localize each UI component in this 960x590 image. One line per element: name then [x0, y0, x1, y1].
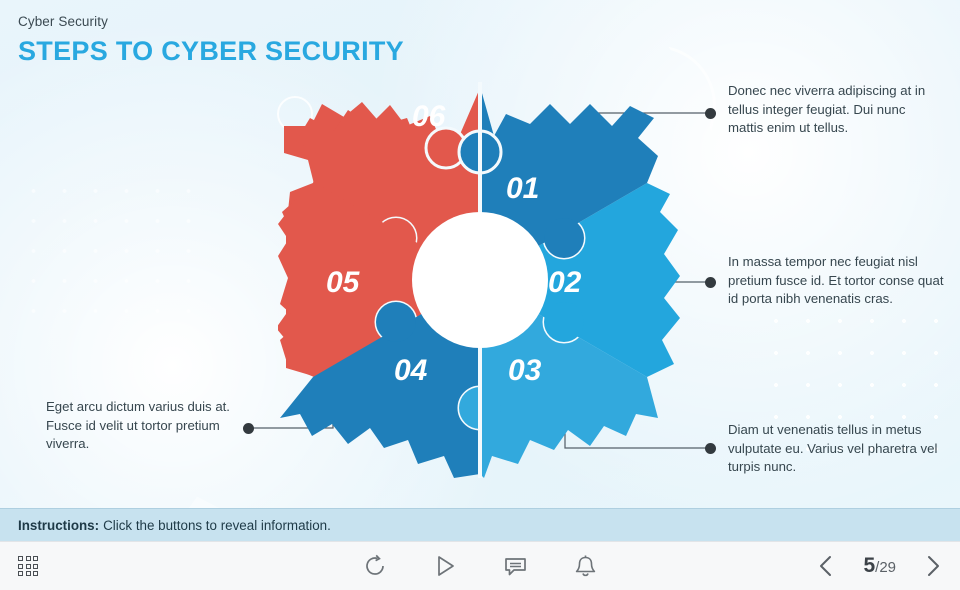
callout-02-dot	[705, 277, 716, 288]
segment-02-knob	[544, 302, 584, 342]
wheel-hub	[412, 212, 548, 348]
callout-04: Eget arcu dictum varius duis at. Fusce i…	[46, 398, 236, 454]
prev-page-button[interactable]	[813, 553, 839, 579]
eyebrow-label: Cyber Security	[18, 14, 404, 29]
callout-01-dot	[705, 108, 716, 119]
play-button[interactable]	[430, 551, 460, 581]
callout-02-text: In massa tempor nec feugiat nisl pretium…	[728, 253, 956, 309]
player-toolbar: 5/29	[0, 541, 960, 590]
player-center-controls	[360, 551, 600, 581]
segment-05-label: 05	[326, 266, 361, 299]
callout-01: Donec nec viverra adipiscing at in tellu…	[728, 82, 943, 138]
segment-02-label: 02	[548, 266, 582, 299]
next-page-button[interactable]	[920, 553, 946, 579]
chevron-right-icon	[923, 555, 943, 577]
segment-04-label: 04	[394, 354, 428, 387]
replay-icon	[363, 554, 387, 578]
page-title: STEPS TO CYBER SECURITY	[18, 36, 404, 67]
bell-icon	[573, 554, 598, 579]
segment-01-knob	[544, 218, 584, 258]
gear-wheel-diagram: 06 05 04 03	[278, 78, 682, 482]
slide-canvas: Cyber Security STEPS TO CYBER SECURITY 0…	[0, 0, 960, 508]
segment-05-knob	[376, 218, 416, 258]
chevron-left-icon	[816, 555, 836, 577]
current-page: 5	[863, 554, 875, 577]
total-pages: 29	[879, 559, 896, 576]
callout-03-text: Diam ut venenatis tellus in metus vulput…	[728, 421, 943, 477]
callout-01-text: Donec nec viverra adipiscing at in tellu…	[728, 82, 943, 138]
instructions-label: Instructions:	[18, 518, 99, 533]
callout-04-dot	[243, 423, 254, 434]
page-indicator: 5/29	[863, 554, 896, 578]
replay-button[interactable]	[360, 551, 390, 581]
comment-button[interactable]	[500, 551, 530, 581]
segment-01-label: 01	[506, 172, 539, 205]
callout-04-text: Eget arcu dictum varius duis at. Fusce i…	[46, 398, 236, 454]
segment-04-knob	[376, 302, 416, 342]
grid-menu-icon[interactable]	[12, 550, 44, 582]
instructions-bar: Instructions: Click the buttons to revea…	[0, 508, 960, 541]
segment-03-label: 03	[508, 354, 542, 387]
notification-button[interactable]	[570, 551, 600, 581]
segment-06-label: 06	[412, 100, 446, 133]
header: Cyber Security STEPS TO CYBER SECURITY	[18, 14, 404, 67]
instructions-text: Click the buttons to reveal information.	[103, 518, 331, 533]
callout-02: In massa tempor nec feugiat nisl pretium…	[728, 253, 956, 309]
callout-03: Diam ut venenatis tellus in metus vulput…	[728, 421, 943, 477]
comment-icon	[503, 554, 528, 579]
grid-menu-glyph	[18, 556, 38, 576]
play-icon	[432, 553, 458, 579]
decorative-dot-grid-left	[18, 176, 193, 321]
callout-03-dot	[705, 443, 716, 454]
pagination: 5/29	[813, 553, 946, 579]
